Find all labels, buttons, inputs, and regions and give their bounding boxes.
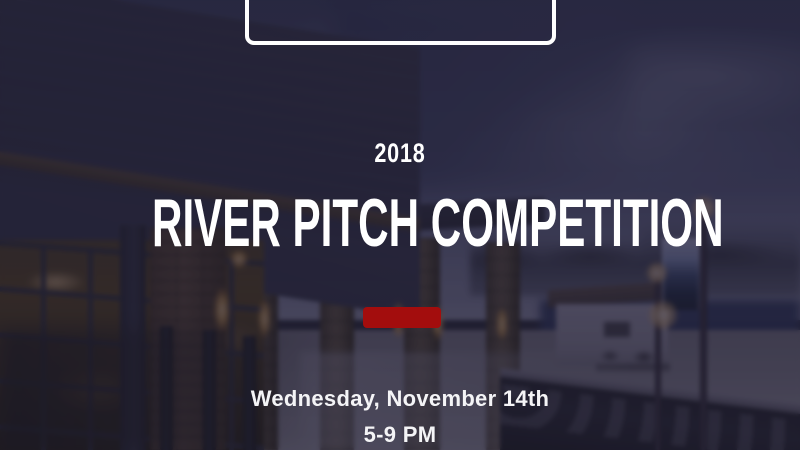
red-divider-bar <box>363 307 441 328</box>
poster-content: SAVE THE DATE 2018 RIVER PITCH COMPETITI… <box>0 0 800 450</box>
event-year: 2018 <box>80 138 720 169</box>
save-the-date-poster: SAVE THE DATE 2018 RIVER PITCH COMPETITI… <box>0 0 800 450</box>
event-date: Wednesday, November 14th <box>0 386 800 412</box>
save-the-date-badge: SAVE THE DATE <box>245 0 556 45</box>
event-time: 5-9 PM <box>0 422 800 448</box>
page-title: RIVER PITCH COMPETITION <box>152 189 648 257</box>
